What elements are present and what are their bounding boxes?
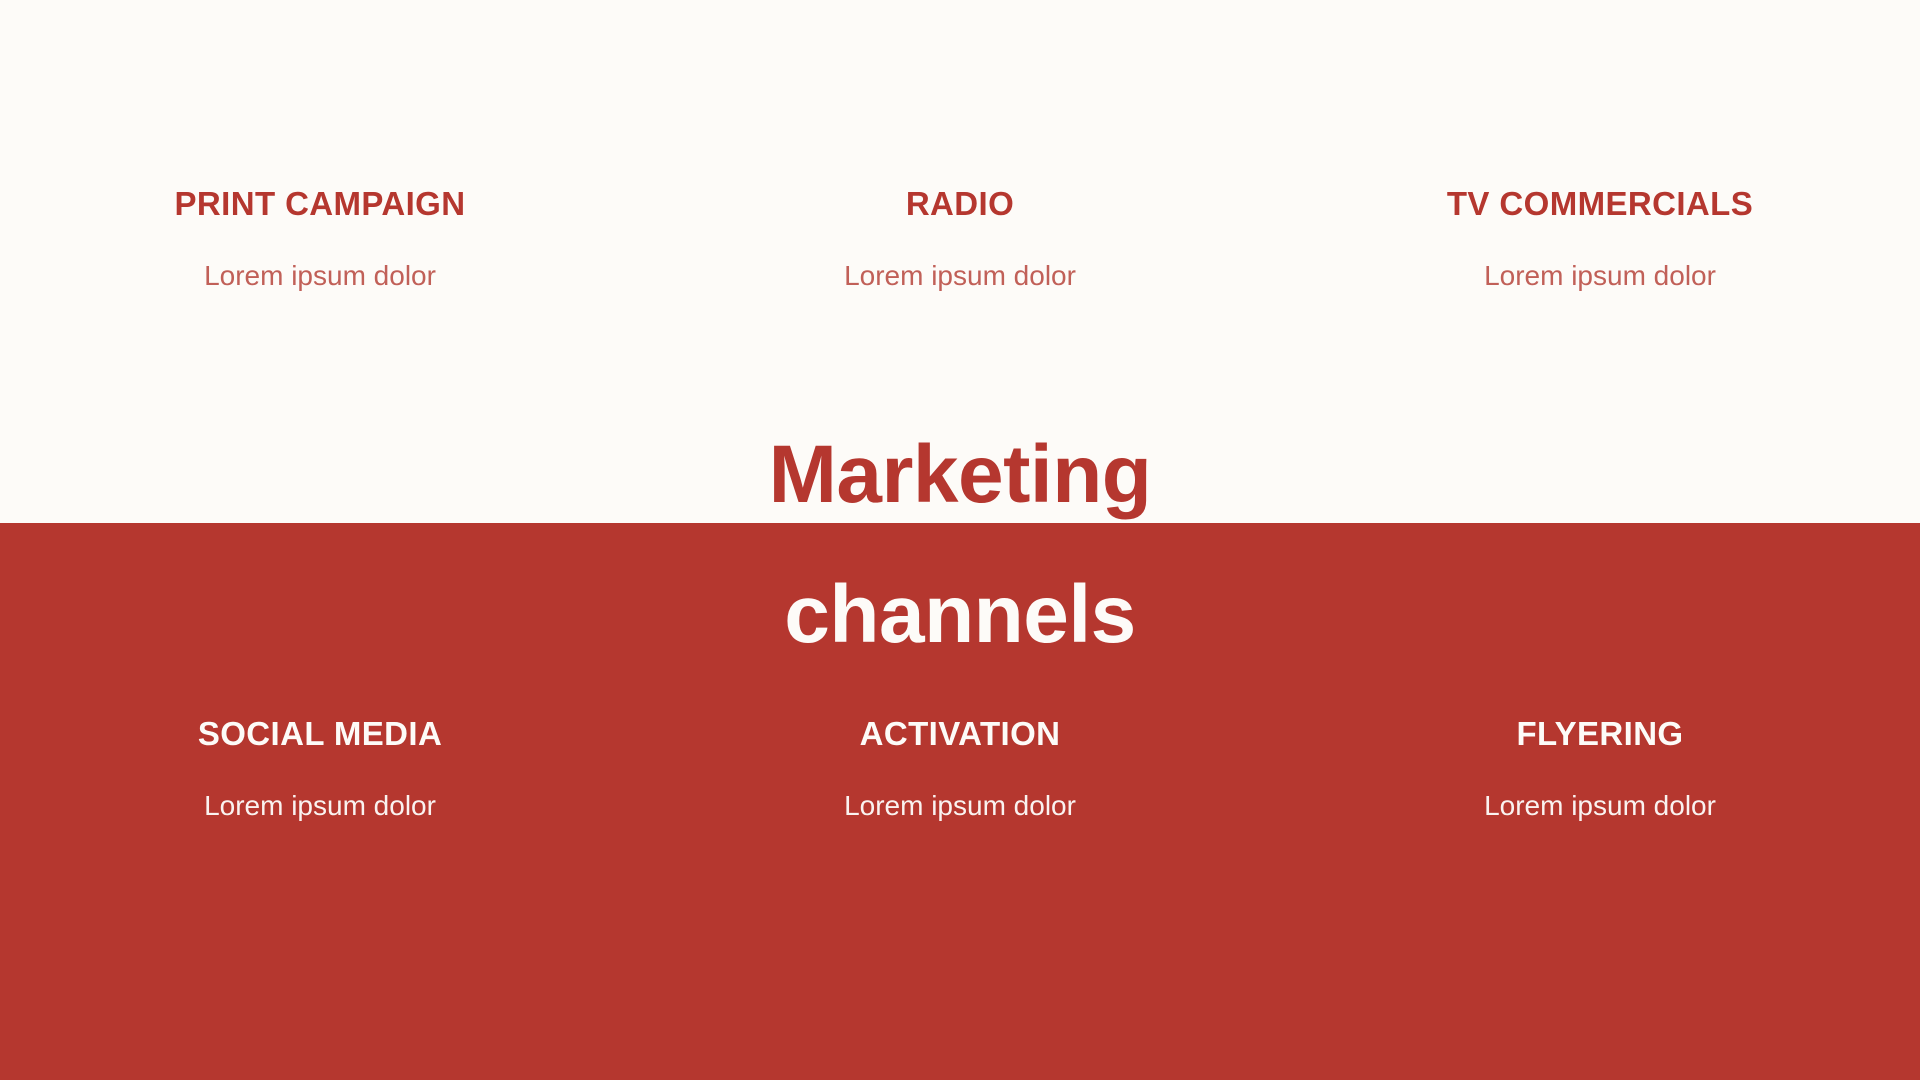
channel-title: ACTIVATION [640,716,1280,752]
channel-title: FLYERING [1280,716,1920,752]
channel-subtitle: Lorem ipsum dolor [1280,222,1920,292]
channel-card-flyering: FLYERING Lorem ipsum dolor [1280,716,1920,822]
channel-card-activation: ACTIVATION Lorem ipsum dolor [640,716,1280,822]
channel-subtitle: Lorem ipsum dolor [640,222,1280,292]
channel-card-print-campaign: PRINT CAMPAIGN Lorem ipsum dolor [0,186,640,292]
page-title-line-1: Marketing [0,405,1920,545]
channel-title: RADIO [640,186,1280,222]
channel-subtitle: Lorem ipsum dolor [0,222,640,292]
channel-card-radio: RADIO Lorem ipsum dolor [640,186,1280,292]
channel-subtitle: Lorem ipsum dolor [1280,752,1920,822]
channel-card-social-media: SOCIAL MEDIA Lorem ipsum dolor [0,716,640,822]
channel-title: SOCIAL MEDIA [0,716,640,752]
channel-subtitle: Lorem ipsum dolor [640,752,1280,822]
marketing-channels-slide: PRINT CAMPAIGN Lorem ipsum dolor RADIO L… [0,0,1920,1080]
channel-card-tv-commercials: TV COMMERCIALS Lorem ipsum dolor [1280,186,1920,292]
page-title-line-2: channels [0,545,1920,685]
channel-title: PRINT CAMPAIGN [0,186,640,222]
page-title: Marketing channels [0,405,1920,685]
bottom-channel-row: SOCIAL MEDIA Lorem ipsum dolor ACTIVATIO… [0,716,1920,822]
channel-subtitle: Lorem ipsum dolor [0,752,640,822]
channel-title: TV COMMERCIALS [1280,186,1920,222]
top-channel-row: PRINT CAMPAIGN Lorem ipsum dolor RADIO L… [0,186,1920,292]
